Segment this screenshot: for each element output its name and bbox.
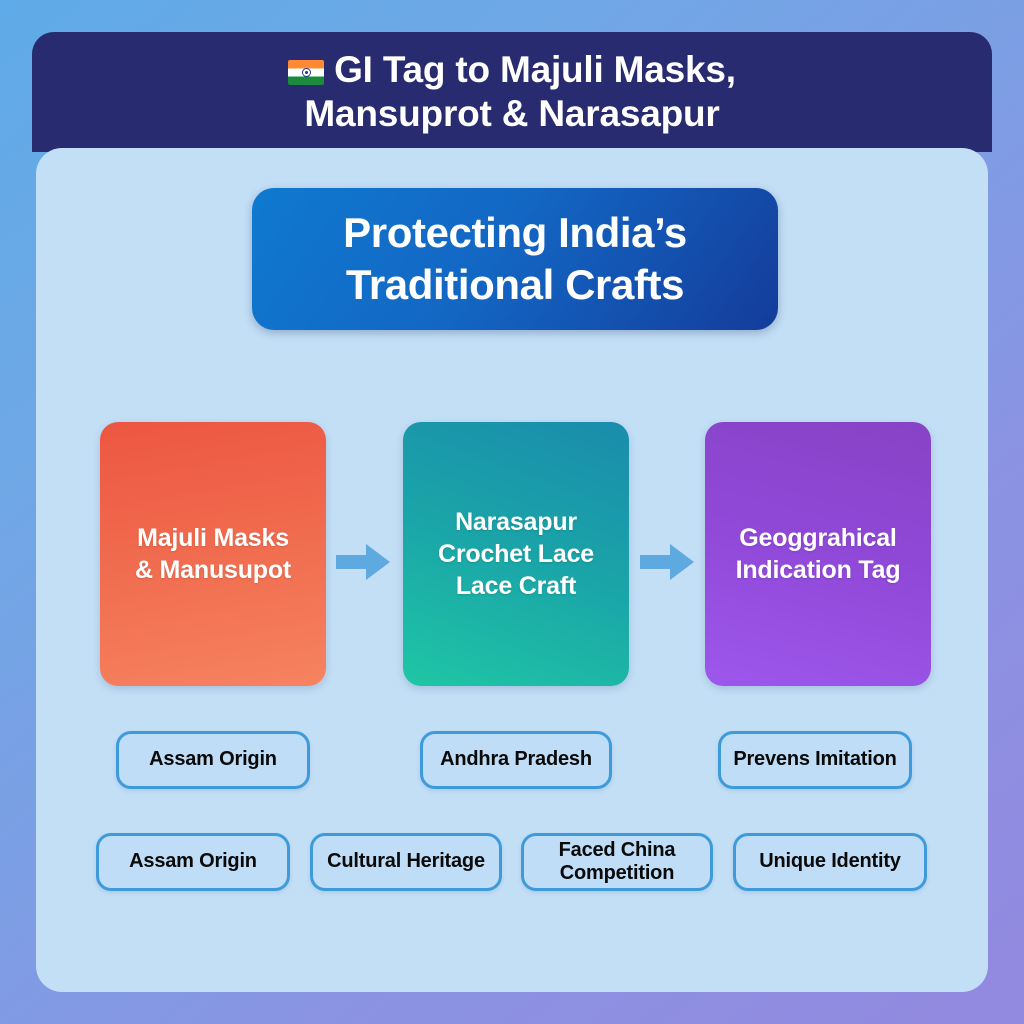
banner-line-2: Traditional Crafts [346, 261, 684, 308]
flow-card-craft-origin[interactable]: Majuli Masks & Manusupot [100, 422, 326, 686]
arrow-right-icon [640, 540, 694, 584]
tag-pill-label: Andhra Pradesh [440, 748, 592, 771]
tag-pill[interactable]: Andhra Pradesh [420, 731, 612, 789]
tag-pill-label: Prevens Imitation [733, 748, 896, 771]
flow-card-3-line-2: Indication Tag [736, 556, 901, 584]
header-title-line-1: GI Tag to Majuli Masks, [334, 49, 736, 90]
flow-card-2-line-3: Lace Craft [456, 572, 576, 600]
subtitle-banner: Protecting India’s Traditional Crafts [252, 188, 778, 330]
subtitle-banner-text: Protecting India’s Traditional Crafts [343, 207, 687, 312]
flow-card-label: Narasapur Crochet Lace Lace Craft [438, 506, 594, 602]
flow-card-3-line-1: Geoggrahical [739, 524, 896, 552]
tag-pill[interactable]: Prevens Imitation [718, 731, 912, 789]
flow-card-1-line-1: Majuli Masks [137, 524, 289, 552]
infographic-poster: GI Tag to Majuli Masks, Mansuprot & Nara… [0, 0, 1024, 1024]
page-title: GI Tag to Majuli Masks, Mansuprot & Nara… [288, 48, 736, 135]
tag-pill[interactable]: Faced China Competition [521, 833, 713, 891]
tag-pill-label: Cultural Heritage [327, 850, 485, 873]
header-title-line-2: Mansuprot & Narasapur [304, 93, 719, 134]
tag-pill-label: Unique Identity [759, 850, 900, 873]
flow-card-label: Geoggrahical Indication Tag [736, 522, 901, 586]
india-flag-icon [288, 60, 324, 85]
header-bar: GI Tag to Majuli Masks, Mansuprot & Nara… [32, 32, 992, 152]
tag-pill-line-1: Faced China [559, 839, 676, 861]
arrow-right-icon [336, 540, 390, 584]
tag-pill[interactable]: Cultural Heritage [310, 833, 502, 891]
tag-pill[interactable]: Assam Origin [116, 731, 310, 789]
banner-line-1: Protecting India’s [343, 209, 687, 256]
flow-card-2-line-1: Narasapur [455, 508, 577, 536]
tag-pill[interactable]: Assam Origin [96, 833, 290, 891]
flow-card-narasapur-lace[interactable]: Narasapur Crochet Lace Lace Craft [403, 422, 629, 686]
flow-card-label: Majuli Masks & Manusupot [135, 522, 291, 586]
tag-pill-label: Assam Origin [149, 748, 277, 771]
flow-card-2-line-2: Crochet Lace [438, 540, 594, 568]
tag-pill-line-2: Competition [560, 862, 674, 884]
tag-pill-label: Assam Origin [129, 850, 257, 873]
tag-pill-label: Faced China Competition [559, 839, 676, 885]
tag-pill[interactable]: Unique Identity [733, 833, 927, 891]
flow-card-gi-tag[interactable]: Geoggrahical Indication Tag [705, 422, 931, 686]
flow-card-1-line-2: & Manusupot [135, 556, 291, 584]
